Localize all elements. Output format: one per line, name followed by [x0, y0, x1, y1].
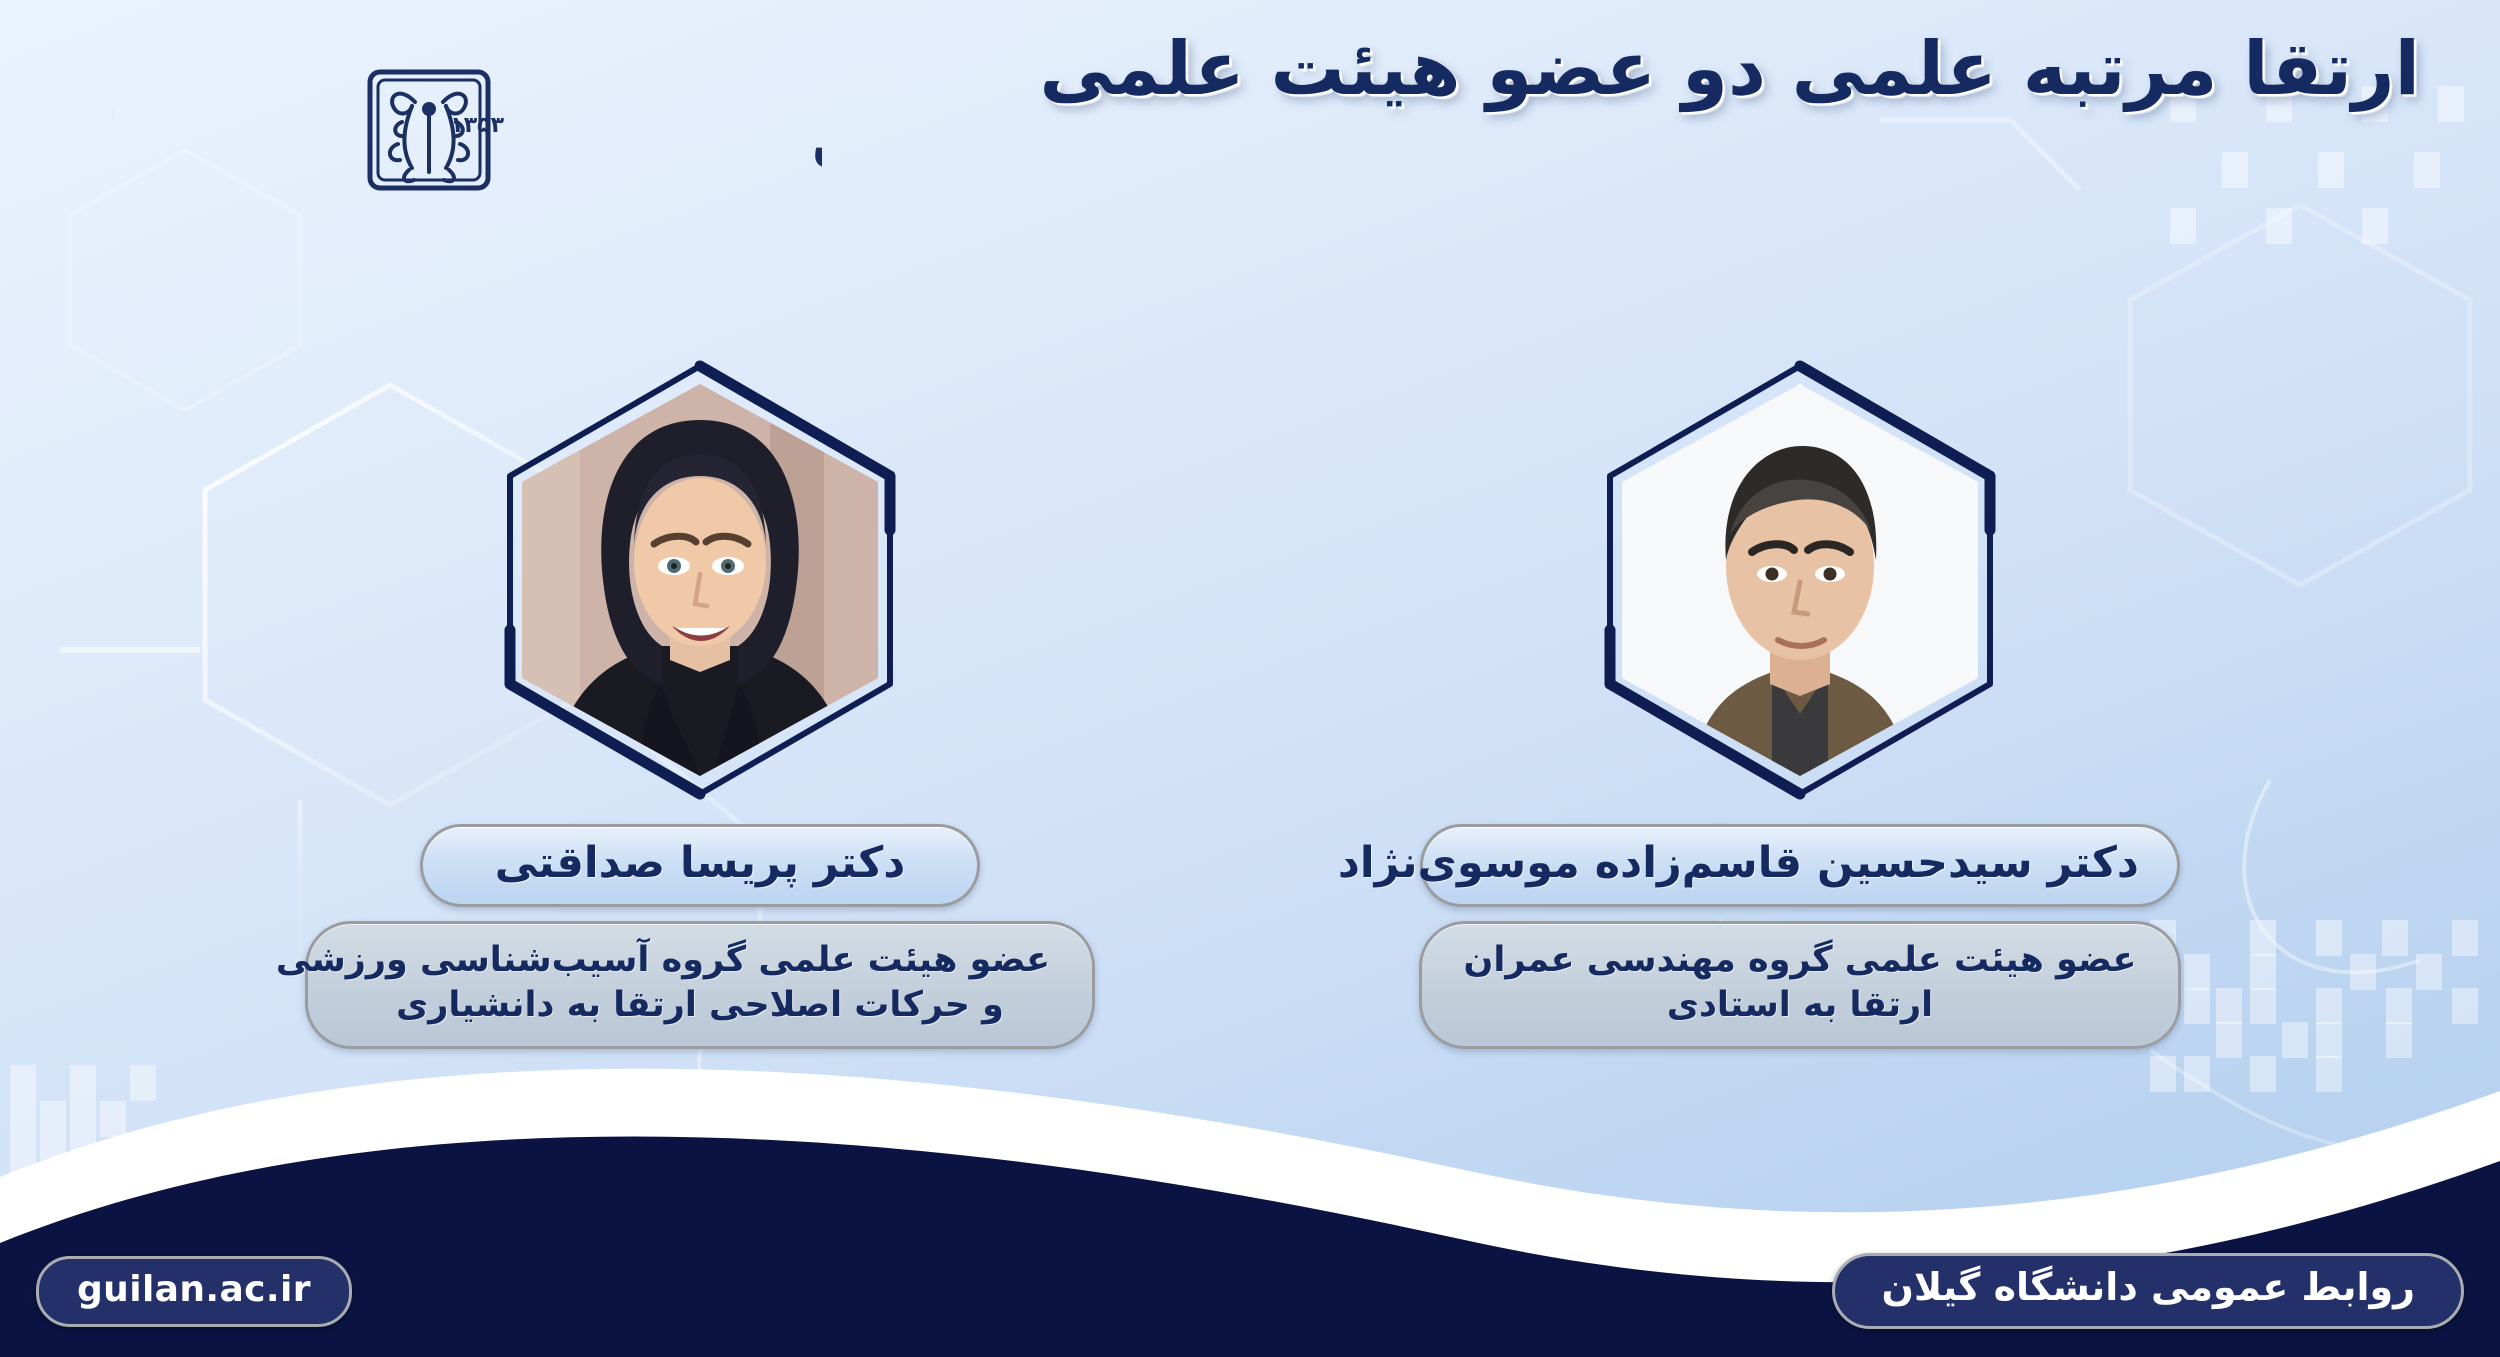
logo-name-persian: دانشگاه گیلان [812, 112, 822, 173]
logo-year-latin: 1974 [112, 95, 113, 114]
page-title: ارتقا مرتبه علمی دو عضو هیئت علمی [1000, 24, 2420, 114]
public-relations-label: روابط عمومی دانشگاه گیلان [1881, 1265, 2415, 1309]
website-url-badge[interactable]: guilan.ac.ir [36, 1256, 352, 1327]
logo-university-of: University of [112, 105, 113, 142]
website-url: guilan.ac.ir [77, 1269, 311, 1310]
university-logo: 1974 University of Guilan [112, 52, 822, 192]
logo-guilan: Guilan [112, 146, 114, 185]
logo-mark: 1974 University of Guilan [112, 52, 822, 192]
announcement-banner: 1974 University of Guilan [0, 0, 2500, 1357]
hexagon-photo-frame [500, 360, 900, 800]
logo-year-persian: ۱۳۵۳ [450, 113, 504, 138]
public-relations-badge: روابط عمومی دانشگاه گیلان [1832, 1253, 2464, 1329]
hexagon-photo-frame [1600, 360, 2000, 800]
